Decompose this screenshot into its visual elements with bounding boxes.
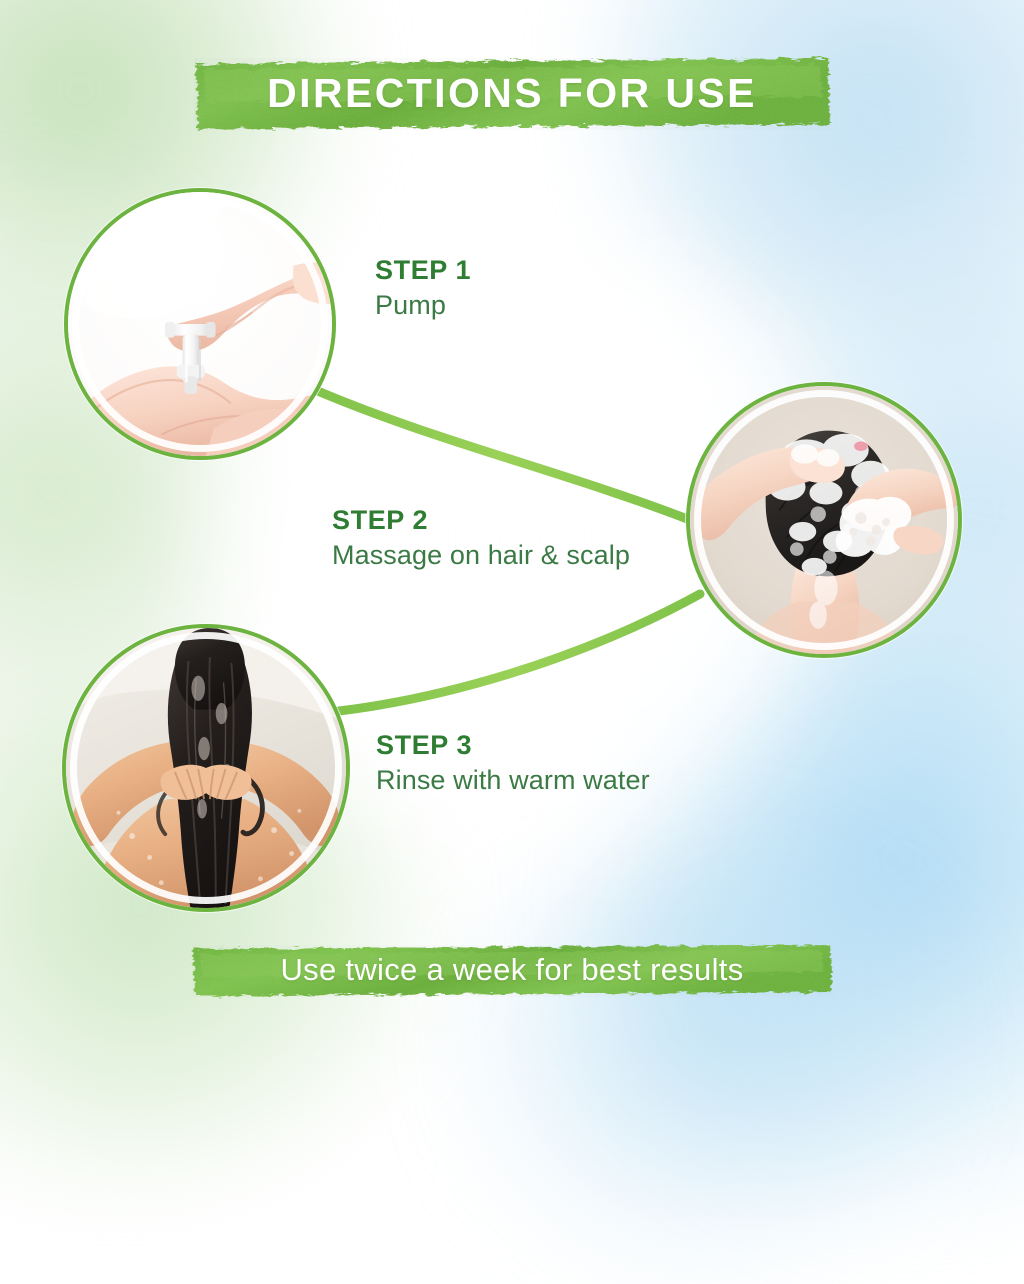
header-banner: DIRECTIONS FOR USE	[190, 52, 834, 134]
step-3-photo-circle	[62, 624, 350, 912]
connector-step1-step2	[306, 386, 690, 520]
connector-step2-step3	[330, 594, 700, 712]
step-2-photo-massage	[690, 386, 958, 654]
footer-banner: Use twice a week for best results	[188, 940, 836, 1000]
step-3-title: STEP 3	[376, 730, 650, 760]
step-3-description: Rinse with warm water	[376, 763, 650, 798]
step-2-description: Massage on hair & scalp	[332, 538, 630, 573]
step-2-photo-circle	[686, 382, 962, 658]
step-1-label-group: STEP 1 Pump	[375, 255, 471, 323]
step-1-photo-circle	[64, 188, 336, 460]
step-1-description: Pump	[375, 288, 471, 323]
step-1-title: STEP 1	[375, 255, 471, 285]
header-banner-text: DIRECTIONS FOR USE	[267, 70, 757, 117]
step-2-title: STEP 2	[332, 505, 630, 535]
step-3-label-group: STEP 3 Rinse with warm water	[376, 730, 650, 798]
step-1-photo-pump	[68, 192, 332, 456]
step-3-photo-rinse	[66, 628, 346, 908]
footer-banner-text: Use twice a week for best results	[280, 952, 743, 988]
step-2-label-group: STEP 2 Massage on hair & scalp	[332, 505, 630, 573]
